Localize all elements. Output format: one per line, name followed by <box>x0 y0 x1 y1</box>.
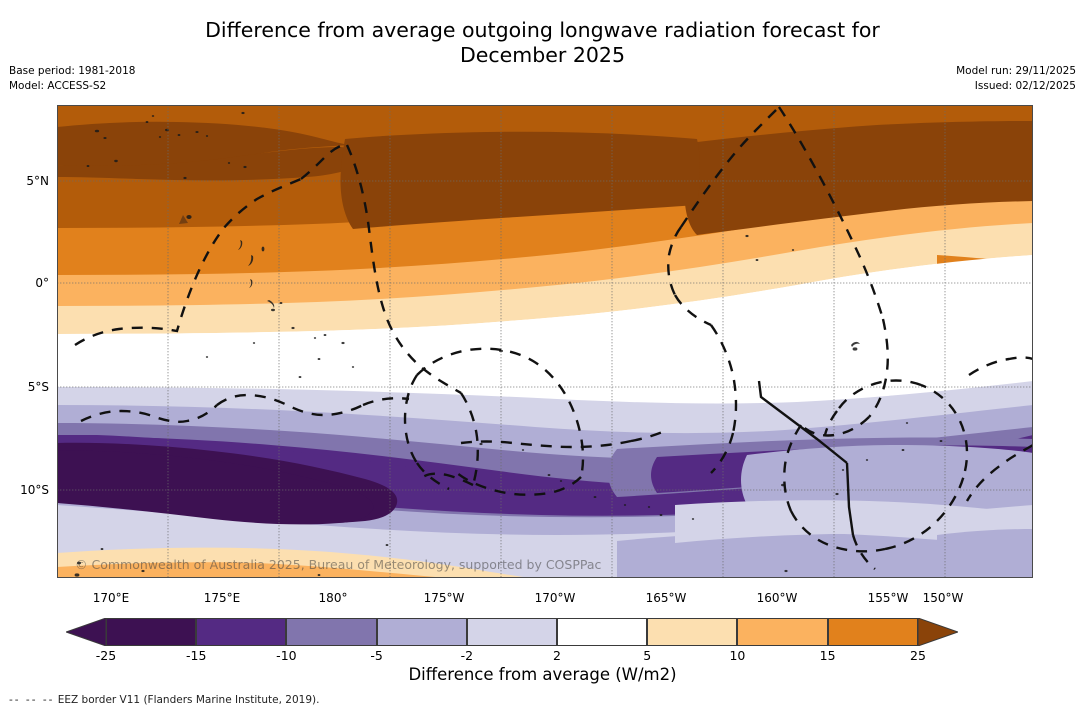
colorbar-tick-8: 15 <box>820 648 836 663</box>
colorbar-segment-3 <box>377 618 467 646</box>
title-line-2: December 2025 <box>460 43 625 67</box>
x-tick-0: 170°E <box>93 591 130 605</box>
colorbar-segment-1 <box>196 618 286 646</box>
y-tick-2: 5°S <box>3 380 49 394</box>
colorbar-tick-5: 2 <box>553 648 561 663</box>
eez-dash-sample: -- -- -- <box>9 694 54 706</box>
x-tick-6: 160°W <box>757 591 798 605</box>
eez-footnote-text: EEZ border V11 (Flanders Marine Institut… <box>54 694 319 706</box>
colorbar-segment-2 <box>286 618 376 646</box>
colorbar: -25 -15 -10 -5 -2 2 5 10 15 25 <box>106 618 918 646</box>
x-tick-8: 150°W <box>923 591 964 605</box>
x-tick-4: 170°W <box>535 591 576 605</box>
metadata-left: Base period: 1981-2018 Model: ACCESS-S2 <box>9 64 135 94</box>
anomaly-map <box>57 105 1033 578</box>
x-tick-3: 175°W <box>424 591 465 605</box>
colorbar-tick-0: -25 <box>96 648 116 663</box>
metadata-right: Model run: 29/11/2025 Issued: 02/12/2025 <box>956 64 1076 94</box>
x-tick-7: 155°W <box>868 591 909 605</box>
colorbar-extend-high <box>918 618 958 646</box>
colorbar-axis-label: Difference from average (W/m2) <box>0 665 1085 684</box>
copyright-watermark: © Commonwealth of Australia 2025, Bureau… <box>75 557 601 572</box>
colorbar-segment-6 <box>647 618 737 646</box>
colorbar-segment-0 <box>106 618 196 646</box>
colorbar-segment-4 <box>467 618 557 646</box>
x-tick-1: 175°E <box>204 591 241 605</box>
model-label: Model: ACCESS-S2 <box>9 79 135 94</box>
y-tick-0: 5°N <box>3 174 49 188</box>
colorbar-tick-7: 10 <box>729 648 745 663</box>
colorbar-segment-8 <box>828 618 918 646</box>
colorbar-tick-3: -5 <box>370 648 382 663</box>
colorbar-tick-1: -15 <box>186 648 206 663</box>
colorbar-tick-4: -2 <box>461 648 473 663</box>
colorbar-segment-7 <box>737 618 827 646</box>
issued-label: Issued: 02/12/2025 <box>956 79 1076 94</box>
title-line-1: Difference from average outgoing longwav… <box>205 18 880 42</box>
y-tick-1: 0° <box>3 276 49 290</box>
y-tick-3: 10°S <box>3 483 49 497</box>
colorbar-segment-5 <box>557 618 647 646</box>
x-tick-5: 165°W <box>646 591 687 605</box>
x-tick-2: 180° <box>319 591 348 605</box>
model-run-label: Model run: 29/11/2025 <box>956 64 1076 79</box>
colorbar-tick-2: -10 <box>276 648 296 663</box>
eez-footnote: -- -- -- EEZ border V11 (Flanders Marine… <box>9 694 319 706</box>
colorbar-tick-9: 25 <box>910 648 926 663</box>
base-period-label: Base period: 1981-2018 <box>9 64 135 79</box>
colorbar-tick-6: 5 <box>643 648 651 663</box>
colorbar-extend-low <box>66 618 106 646</box>
page-title: Difference from average outgoing longwav… <box>0 18 1085 68</box>
